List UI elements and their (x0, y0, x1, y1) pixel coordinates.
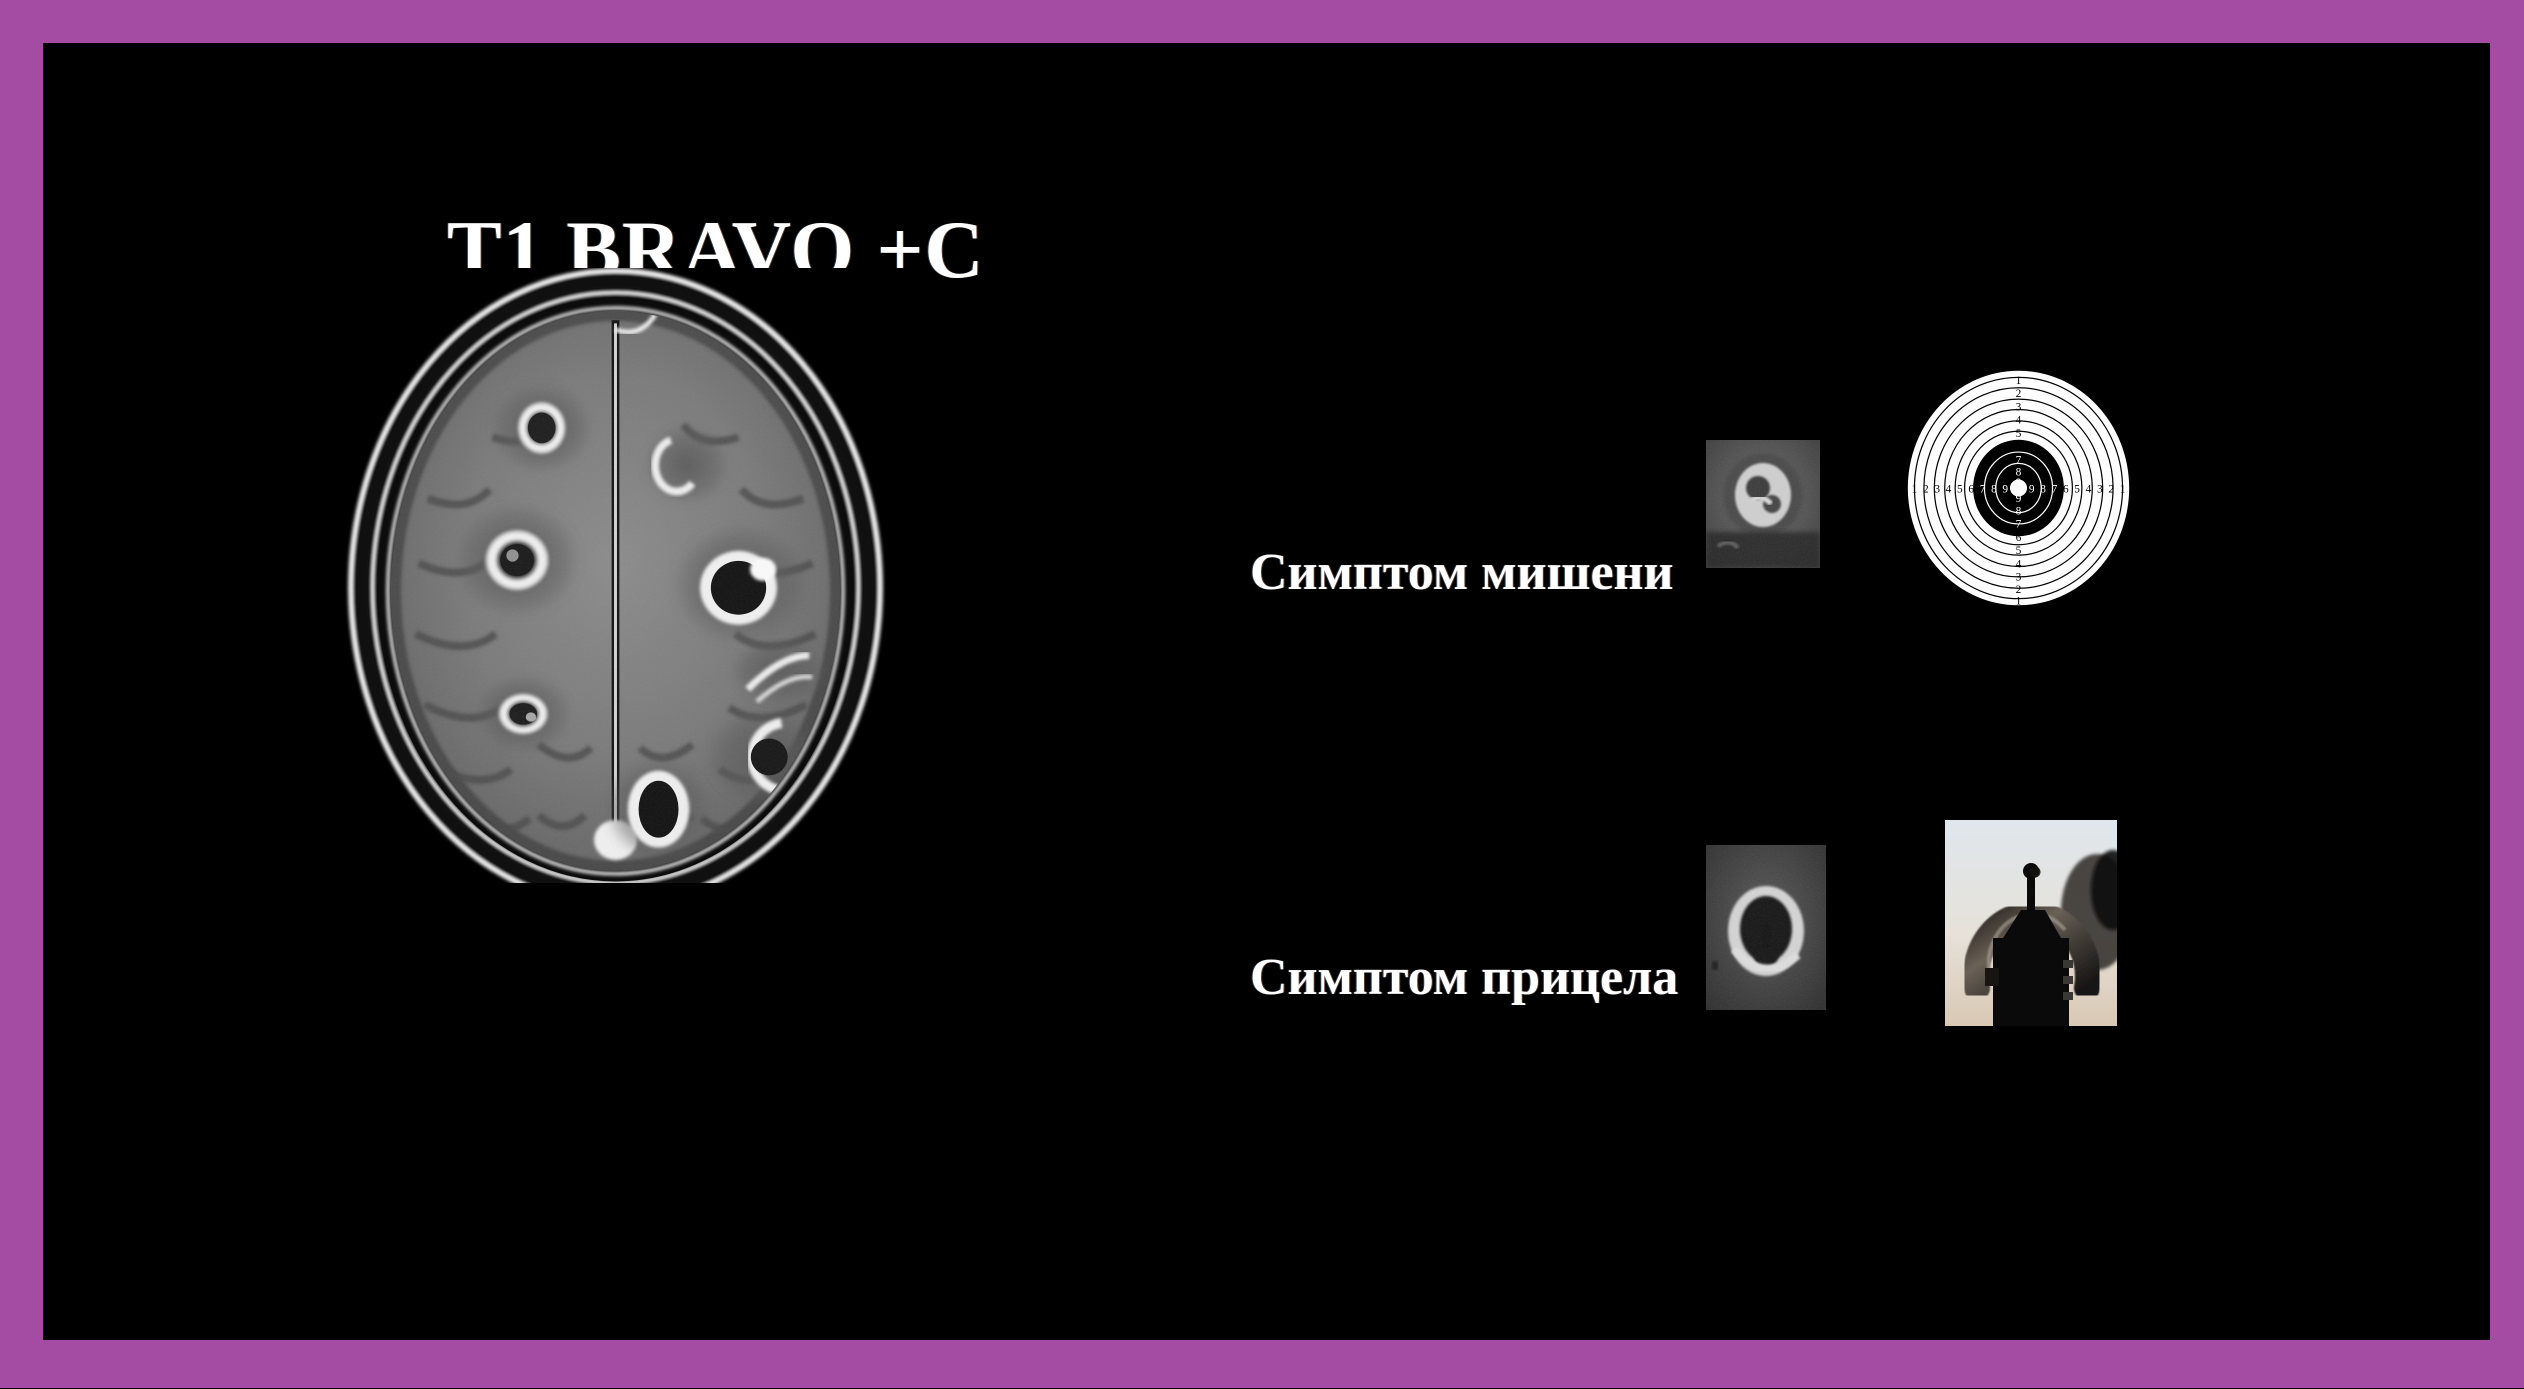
photo-shooting-target: 1 2 3 4 5 6 7 8 9 9 8 7 (1905, 368, 2132, 608)
label-target-sign: Симптом мишени (1250, 543, 1673, 602)
svg-text:3: 3 (2016, 572, 2022, 584)
label-scope-sign: Симптом прицела (1250, 948, 1678, 1007)
svg-text:1: 1 (2016, 375, 2022, 387)
svg-text:9: 9 (2016, 477, 2022, 489)
svg-text:8: 8 (2040, 484, 2046, 496)
svg-text:6: 6 (1968, 484, 1974, 496)
svg-text:6: 6 (2016, 441, 2022, 453)
svg-text:9: 9 (2002, 484, 2008, 496)
slide-canvas: T1 BRAVO +C (43, 43, 2490, 1340)
svg-text:8: 8 (2016, 505, 2022, 517)
svg-text:4: 4 (2016, 558, 2022, 570)
svg-text:4: 4 (1946, 484, 1952, 496)
svg-text:2: 2 (2016, 584, 2022, 596)
svg-text:8: 8 (1991, 484, 1997, 496)
mri-main-image (308, 268, 923, 883)
svg-text:7: 7 (2016, 454, 2022, 466)
svg-text:5: 5 (2016, 545, 2022, 557)
mri-inset-scope-sign (1706, 845, 1826, 1010)
svg-text:1: 1 (1912, 484, 1918, 496)
svg-text:5: 5 (1957, 484, 1963, 496)
slide-frame: T1 BRAVO +C (0, 0, 2524, 1388)
svg-text:5: 5 (2074, 484, 2080, 496)
svg-text:4: 4 (2086, 484, 2092, 496)
svg-text:2: 2 (1923, 484, 1929, 496)
svg-text:2: 2 (2016, 388, 2022, 400)
svg-text:5: 5 (2016, 428, 2022, 440)
svg-text:3: 3 (1934, 484, 1940, 496)
svg-text:7: 7 (2016, 519, 2022, 531)
svg-text:2: 2 (2108, 484, 2114, 496)
svg-text:9: 9 (2029, 484, 2035, 496)
svg-text:1: 1 (2016, 595, 2022, 607)
svg-text:4: 4 (2016, 415, 2022, 427)
svg-text:9: 9 (2016, 493, 2022, 505)
svg-text:6: 6 (2016, 532, 2022, 544)
photo-gun-front-sight (1945, 820, 2117, 1026)
svg-text:3: 3 (2097, 484, 2103, 496)
svg-text:1: 1 (2120, 484, 2126, 496)
svg-text:6: 6 (2063, 484, 2069, 496)
svg-text:7: 7 (1980, 484, 1986, 496)
svg-text:7: 7 (2052, 484, 2058, 496)
svg-text:3: 3 (2016, 401, 2022, 413)
mri-inset-target-sign (1706, 440, 1820, 568)
